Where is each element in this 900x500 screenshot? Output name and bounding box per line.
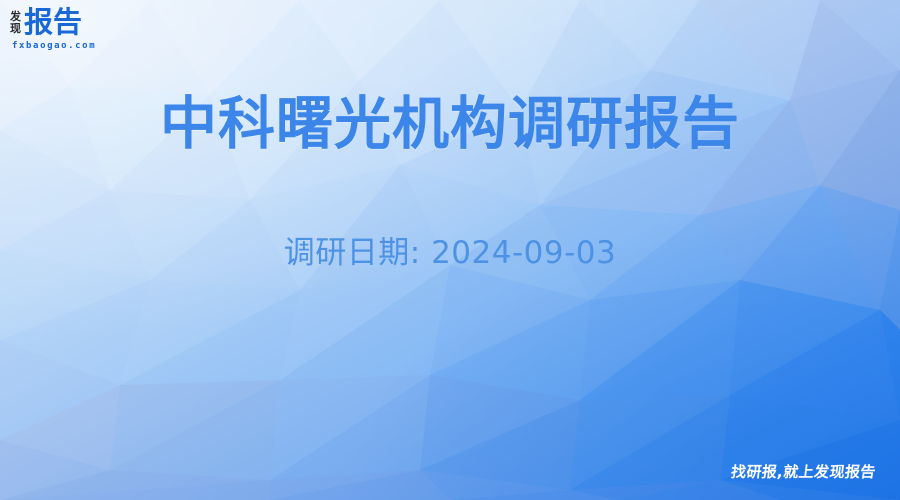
page-title: 中科曙光机构调研报告 [0, 92, 900, 156]
footer-slogan: 找研报,就上发现报告 [730, 463, 877, 482]
logo-wordmark: 报告 [24, 8, 82, 37]
logo-url-text: fxbaogao.com [12, 41, 96, 51]
logo-char-xian: 现 [10, 23, 21, 35]
logo-mark: 发 现 报告 [10, 8, 82, 37]
logo-stacked-characters: 发 现 [10, 8, 21, 35]
fxbaogao-logo[interactable]: 发 现 报告 fxbaogao.com [10, 8, 82, 37]
survey-date-subtitle: 调研日期: 2024-09-03 [0, 233, 900, 273]
report-cover-slide: 发 现 报告 fxbaogao.com 中科曙光机构调研报告 调研日期: 202… [0, 0, 900, 500]
